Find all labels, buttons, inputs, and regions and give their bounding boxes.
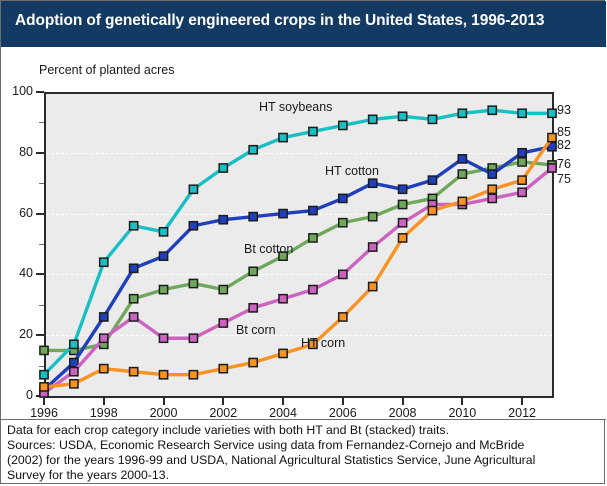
x-axis-tick-label: 1998: [82, 406, 126, 420]
x-axis-tick-label: 2006: [321, 406, 365, 420]
x-axis-tick-label: 1996: [22, 406, 66, 420]
y-axis-tick: [36, 334, 44, 336]
y-axis-title: Percent of planted acres: [39, 63, 175, 77]
x-axis-tick: [282, 398, 284, 405]
x-axis-tick-label: 2004: [261, 406, 305, 420]
x-axis-tick-label: 2010: [440, 406, 484, 420]
y-axis-tick: [36, 395, 44, 397]
y-axis-minor-tick: [39, 122, 44, 123]
y-axis-tick: [36, 91, 44, 93]
y-axis-tick-label: 80: [3, 145, 33, 159]
page-title: Adoption of genetically engineered crops…: [15, 12, 544, 30]
x-axis-tick-label: 2000: [142, 406, 186, 420]
series-label-bt-corn: Bt corn: [236, 323, 276, 337]
x-axis-tick: [43, 398, 45, 405]
x-axis-tick: [163, 398, 165, 405]
y-axis-tick-label: 60: [3, 206, 33, 220]
series-label-ht-soybeans: HT soybeans: [259, 100, 332, 114]
y-axis-minor-tick: [39, 244, 44, 245]
end-value-ht-soybeans: 93: [557, 103, 571, 117]
y-axis-minor-tick: [39, 305, 44, 306]
x-axis-tick: [222, 398, 224, 405]
chart-figure: Adoption of genetically engineered crops…: [0, 0, 605, 484]
figure-header-band: Adoption of genetically engineered crops…: [1, 1, 606, 47]
x-axis-tick-label: 2002: [201, 406, 245, 420]
footnote-line-3: (2002) for the years 1996-99 and USDA, N…: [7, 453, 600, 468]
end-value-bt-corn: 75: [557, 172, 571, 186]
x-axis-tick: [402, 398, 404, 405]
x-axis-tick: [103, 398, 105, 405]
y-axis-tick-label: 40: [3, 266, 33, 280]
y-axis-minor-tick: [39, 183, 44, 184]
x-axis-tick: [461, 398, 463, 405]
gridline: [46, 214, 552, 216]
x-axis-line: [44, 396, 554, 398]
y-axis-tick: [36, 273, 44, 275]
series-label-bt-cotton: Bt cotton: [244, 242, 293, 256]
y-axis-tick-label: 100: [3, 84, 33, 98]
series-label-ht-cotton: HT cotton: [325, 164, 379, 178]
y-axis-tick-label: 20: [3, 327, 33, 341]
chart-area: Percent of planted acres 020406080100 19…: [1, 47, 606, 419]
end-value-bt-cotton: 76: [557, 157, 571, 171]
y-axis-minor-tick: [39, 366, 44, 367]
x-axis-tick-label: 2008: [381, 406, 425, 420]
footnote-block: Data for each crop category include vari…: [1, 419, 606, 485]
x-axis-tick: [521, 398, 523, 405]
x-axis-tick-label: 2012: [500, 406, 544, 420]
end-value-ht-cotton: 82: [557, 138, 571, 152]
series-label-ht-corn: HT corn: [301, 336, 345, 350]
gridline: [46, 274, 552, 276]
y-axis-tick: [36, 152, 44, 154]
x-axis-tick: [342, 398, 344, 405]
gridline: [46, 335, 552, 337]
plot-right-border: [552, 92, 554, 398]
footnote-line-1: Data for each crop category include vari…: [7, 423, 600, 438]
y-axis-tick-label: 0: [3, 388, 33, 402]
footnote-line-2: Sources: USDA, Economic Research Service…: [7, 438, 600, 453]
plot-region: [44, 92, 554, 398]
y-axis-tick: [36, 213, 44, 215]
end-value-ht-corn: 85: [557, 125, 571, 139]
footnote-line-4: Survey for the years 2000-13.: [7, 468, 600, 483]
gridline: [46, 153, 552, 155]
